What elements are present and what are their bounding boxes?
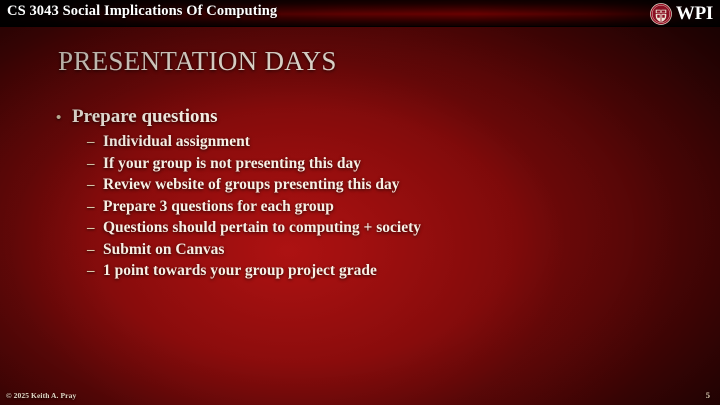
slide-body: • Prepare questions – Individual assignm… <box>56 106 676 284</box>
wpi-seal-icon <box>650 3 672 25</box>
bullet-dash-icon: – <box>87 135 103 150</box>
bullet-text: Review website of groups presenting this… <box>103 176 676 194</box>
bullet-item: – 1 point towards your group project gra… <box>87 262 676 280</box>
bullet-item: – Submit on Canvas <box>87 241 676 259</box>
bullet-text: If your group is not presenting this day <box>103 155 676 173</box>
bullet-text: 1 point towards your group project grade <box>103 262 676 280</box>
bullet-dash-icon: – <box>87 264 103 279</box>
bullet-dash-icon: – <box>87 178 103 193</box>
bullet-item: – If your group is not presenting this d… <box>87 155 676 173</box>
bullet-item: – Questions should pertain to computing … <box>87 219 676 237</box>
bullet-dash-icon: – <box>87 157 103 172</box>
course-title: CS 3043 Social Implications Of Computing <box>7 3 277 20</box>
bullet-text: Prepare 3 questions for each group <box>103 198 676 216</box>
bullet-text: Prepare questions <box>72 106 676 128</box>
bullet-item: – Prepare 3 questions for each group <box>87 198 676 216</box>
slide-title: PRESENTATION DAYS <box>58 46 337 77</box>
bullet-item: – Individual assignment <box>87 133 676 151</box>
bullet-dash-icon: – <box>87 200 103 215</box>
bullet-item: – Review website of groups presenting th… <box>87 176 676 194</box>
presentation-slide: CS 3043 Social Implications Of Computing… <box>0 0 720 405</box>
bullet-item: • Prepare questions <box>56 106 676 128</box>
wpi-wordmark: WPI <box>676 4 713 23</box>
copyright-notice: © 2025 Keith A. Pray <box>6 391 76 400</box>
bullet-dot-icon: • <box>56 111 72 126</box>
bullet-text: Questions should pertain to computing + … <box>103 219 676 237</box>
slide-number: 5 <box>706 390 710 400</box>
bullet-text: Submit on Canvas <box>103 241 676 259</box>
bullet-text: Individual assignment <box>103 133 676 151</box>
slide-header-band: CS 3043 Social Implications Of Computing… <box>0 0 720 27</box>
wpi-logo: WPI <box>650 1 713 26</box>
bullet-dash-icon: – <box>87 221 103 236</box>
bullet-dash-icon: – <box>87 243 103 258</box>
